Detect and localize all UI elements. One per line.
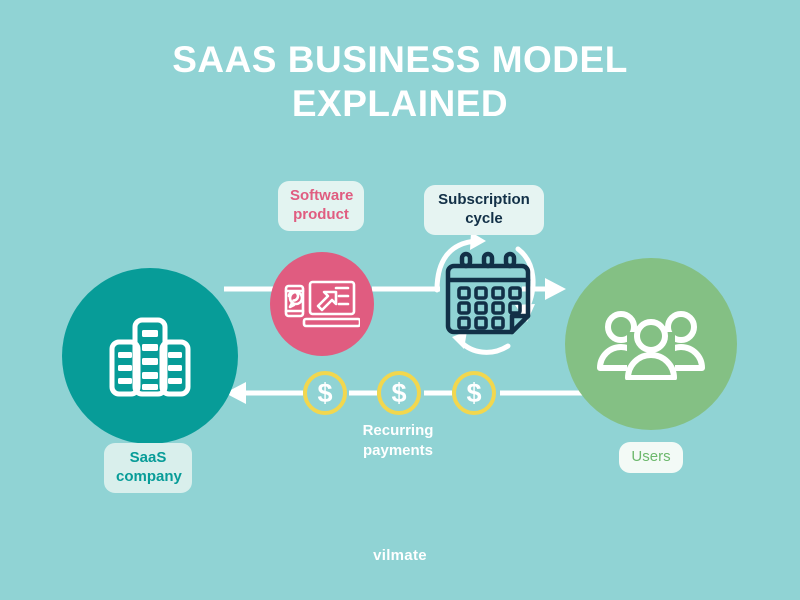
coin-1: $ bbox=[303, 371, 347, 415]
node-software-product[interactable] bbox=[270, 252, 374, 356]
label-saas-company-line-1: SaaS bbox=[116, 449, 180, 468]
label-users: Users bbox=[619, 442, 683, 473]
label-subscription-cycle-line-2: cycle bbox=[436, 210, 532, 229]
laptop-mobile-app-icon bbox=[284, 274, 360, 334]
coin-3-symbol: $ bbox=[466, 380, 481, 407]
label-saas-company: SaaS company bbox=[104, 443, 192, 493]
label-saas-company-line-2: company bbox=[116, 468, 180, 487]
node-users[interactable] bbox=[565, 258, 737, 430]
node-saas-company[interactable] bbox=[62, 268, 238, 444]
coin-3: $ bbox=[452, 371, 496, 415]
node-subscription-cycle[interactable] bbox=[432, 240, 550, 358]
group-of-users-icon bbox=[595, 308, 707, 380]
label-subscription-cycle-line-1: Subscription bbox=[436, 191, 532, 210]
infographic-canvas: SAAS BUSINESS MODEL EXPLAINED bbox=[0, 0, 800, 600]
label-software-product: Software product bbox=[278, 181, 364, 231]
coin-2: $ bbox=[377, 371, 421, 415]
label-recurring-payments: Recurring payments bbox=[336, 421, 460, 460]
coin-1-symbol: $ bbox=[317, 380, 332, 407]
calendar-recurring-icon bbox=[432, 240, 550, 358]
label-software-product-line-2: product bbox=[290, 206, 352, 225]
label-recurring-payments-line-1: Recurring bbox=[336, 421, 460, 441]
coin-2-symbol: $ bbox=[391, 380, 406, 407]
office-building-icon bbox=[102, 308, 198, 404]
label-subscription-cycle: Subscription cycle bbox=[424, 185, 544, 235]
label-software-product-line-1: Software bbox=[290, 187, 352, 206]
label-recurring-payments-line-2: payments bbox=[336, 441, 460, 461]
footer-brand: vilmate bbox=[0, 547, 800, 564]
